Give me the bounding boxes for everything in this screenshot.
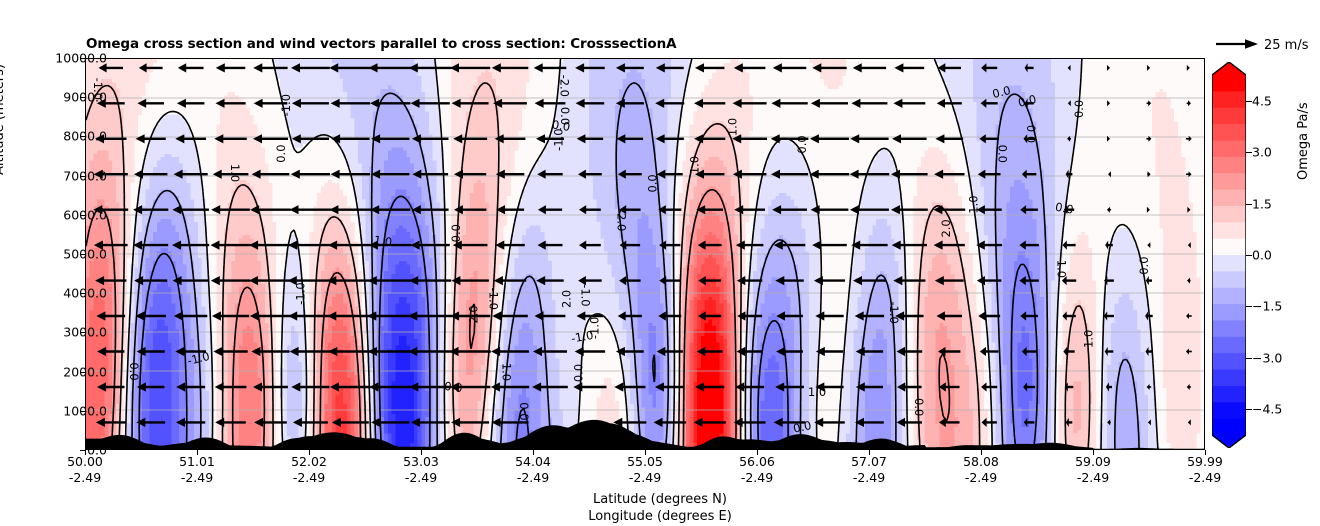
x-axis-tick-mark [1205,450,1206,455]
x-axis-tick-label: 54.04-2.49 [515,454,551,485]
x-tick-latitude: 54.04 [515,454,551,470]
y-axis-tick-mark [80,176,85,177]
x-tick-latitude: 55.05 [627,454,663,470]
y-axis-tick-mark [80,58,85,59]
y-axis-tick-label: 8000.0 [63,129,107,144]
quiver-key-label: 25 m/s [1264,38,1309,53]
y-axis-tick-label: 2000.0 [63,364,107,379]
plot-axes: 0.01.0-1.02.0-2.00.0-1.01.00.0-2.00.01.0… [85,58,1205,450]
quiver-key: 25 m/s [1214,36,1320,58]
x-axis-tick-label: 57.07-2.49 [851,454,887,485]
y-axis-tick-label: 6000.0 [63,207,107,222]
x-tick-latitude: 59.09 [1075,454,1111,470]
x-tick-longitude: -2.49 [179,470,215,486]
colorbar [1212,62,1246,448]
quiver-key-arrow-icon [1214,36,1260,58]
x-tick-latitude: 50.00 [67,454,103,470]
colorbar-band [1212,140,1246,157]
y-axis-tick-label: 5000.0 [63,247,107,262]
colorbar-band [1212,370,1246,387]
colorbar-tick-mark [1246,409,1252,410]
x-tick-longitude: -2.49 [739,470,775,486]
x-tick-latitude: 57.07 [851,454,887,470]
colorbar-band [1212,419,1246,436]
colorbar-label: Omega Pa/s [1296,102,1311,180]
colorbar-band [1212,75,1246,92]
colorbar-band [1212,91,1246,108]
y-axis-tick-mark [80,293,85,294]
colorbar-band [1212,239,1246,256]
x-axis-tick-mark [197,450,198,455]
colorbar-band [1212,124,1246,141]
colorbar-tick-label: −1.5 [1252,299,1282,314]
x-tick-latitude: 59.99 [1187,454,1223,470]
y-axis-tick-mark [80,254,85,255]
x-axis-tick-label: 51.01-2.49 [179,454,215,485]
colorbar-band [1212,157,1246,174]
x-axis-tick-mark [981,450,982,455]
x-axis-tick-mark [757,450,758,455]
colorbar-tick-mark [1246,306,1252,307]
colorbar-band [1212,271,1246,288]
x-axis-label-latitude: Latitude (degrees N) [0,492,1320,507]
colorbar-tick-mark [1246,204,1252,205]
x-axis-tick-mark [421,450,422,455]
x-tick-longitude: -2.49 [851,470,887,486]
x-axis-label-longitude: Longitude (degrees E) [0,509,1320,524]
x-tick-latitude: 53.03 [403,454,439,470]
colorbar-extend-min [1212,435,1246,448]
y-axis-tick-mark [80,411,85,412]
x-axis-tick-label: 56.06-2.49 [739,454,775,485]
colorbar-band [1212,402,1246,419]
colorbar-tick-label: 1.5 [1252,196,1272,211]
x-axis-tick-label: 59.99-2.49 [1187,454,1223,485]
colorbar-tick-label: 3.0 [1252,145,1272,160]
colorbar-band [1212,222,1246,239]
y-axis-tick-label: 3000.0 [63,325,107,340]
y-axis-tick-mark [80,332,85,333]
colorbar-band [1212,190,1246,207]
title-line-1: Omega cross section and wind vectors par… [86,37,1196,53]
x-axis-tick-mark [85,450,86,455]
y-axis-tick-label: 9000.0 [63,90,107,105]
x-axis-tick-label: 58.08-2.49 [963,454,999,485]
colorbar-tick-label: 0.0 [1252,248,1272,263]
x-tick-latitude: 58.08 [963,454,999,470]
x-axis-tick-label: 53.03-2.49 [403,454,439,485]
x-tick-longitude: -2.49 [67,470,103,486]
x-tick-longitude: -2.49 [1187,470,1223,486]
y-axis-tick-label: 4000.0 [63,286,107,301]
x-tick-longitude: -2.49 [515,470,551,486]
figure-canvas: Omega cross section and wind vectors par… [0,0,1320,526]
colorbar-band [1212,304,1246,321]
x-tick-latitude: 52.02 [291,454,327,470]
colorbar-band [1212,255,1246,272]
plot-area: 0.01.0-1.02.0-2.00.0-1.01.00.0-2.00.01.0… [86,59,1204,449]
x-axis-tick-mark [309,450,310,455]
x-axis-tick-label: 55.05-2.49 [627,454,663,485]
x-tick-longitude: -2.49 [291,470,327,486]
colorbar-band [1212,108,1246,125]
x-axis-tick-mark [533,450,534,455]
colorbar-band [1212,386,1246,403]
x-tick-latitude: 56.06 [739,454,775,470]
colorbar-gradient [1212,62,1246,448]
y-axis-tick-label: 7000.0 [63,168,107,183]
colorbar-band [1212,206,1246,223]
x-tick-longitude: -2.49 [627,470,663,486]
y-axis-tick-mark [80,97,85,98]
omega-cross-section: 0.01.0-1.02.0-2.00.0-1.01.00.0-2.00.01.0… [86,59,1204,449]
x-axis-tick-label: 59.09-2.49 [1075,454,1111,485]
x-axis-tick-label: 52.02-2.49 [291,454,327,485]
colorbar-tick-mark [1246,152,1252,153]
colorbar-tick-mark [1246,101,1252,102]
colorbar-extend-max [1212,62,1246,75]
x-tick-longitude: -2.49 [963,470,999,486]
x-axis-tick-mark [645,450,646,455]
colorbar-band [1212,288,1246,305]
colorbar-band [1212,337,1246,354]
y-axis-tick-label: 1000.0 [63,403,107,418]
colorbar-tick-mark [1246,358,1252,359]
x-axis-tick-label: 50.00-2.49 [67,454,103,485]
x-tick-longitude: -2.49 [403,470,439,486]
colorbar-tick-label: −4.5 [1252,402,1282,417]
x-tick-latitude: 51.01 [179,454,215,470]
y-axis-tick-mark [80,372,85,373]
y-axis-tick-mark [80,215,85,216]
colorbar-tick-label: 4.5 [1252,93,1272,108]
colorbar-band [1212,173,1246,190]
colorbar-band [1212,320,1246,337]
y-axis-tick-mark [80,136,85,137]
colorbar-tick-label: −3.0 [1252,350,1282,365]
y-axis-label: Altitude (meters) [0,64,7,175]
x-tick-longitude: -2.49 [1075,470,1111,486]
colorbar-band [1212,353,1246,370]
colorbar-tick-mark [1246,255,1252,256]
x-axis-tick-mark [1093,450,1094,455]
x-axis-tick-mark [869,450,870,455]
